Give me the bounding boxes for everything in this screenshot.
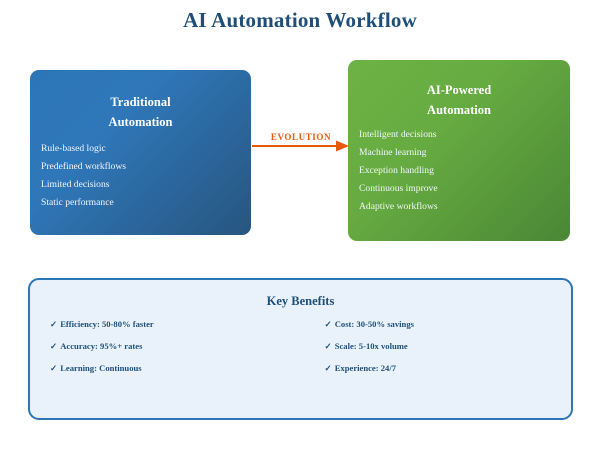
- list-item-label: Efficiency: 50-80% faster: [60, 319, 154, 329]
- panel-ai-title: AI-Powered Automation: [348, 80, 570, 120]
- list-item: ✓Efficiency: 50-80% faster: [50, 320, 301, 329]
- check-icon: ✓: [50, 341, 57, 351]
- check-icon: ✓: [325, 363, 332, 373]
- list-item: ✓Accuracy: 95%+ rates: [50, 342, 301, 351]
- check-icon: ✓: [50, 363, 57, 373]
- panel-ai-title-line1: AI-Powered: [360, 80, 558, 100]
- check-icon: ✓: [50, 319, 57, 329]
- key-benefits-right-column: ✓Cost: 30-50% savings ✓Scale: 5-10x volu…: [301, 320, 572, 386]
- key-benefits-columns: ✓Efficiency: 50-80% faster ✓Accuracy: 95…: [30, 320, 571, 386]
- list-item: Rule-based logic: [41, 144, 251, 154]
- key-benefits-title: Key Benefits: [30, 294, 571, 309]
- panel-ai-items: Intelligent decisions Machine learning E…: [348, 130, 570, 212]
- key-benefits-left-column: ✓Efficiency: 50-80% faster ✓Accuracy: 95…: [30, 320, 301, 386]
- panel-ai-title-line2: Automation: [360, 100, 558, 120]
- list-item: Continuous improve: [359, 184, 570, 194]
- list-item-label: Cost: 30-50% savings: [335, 319, 414, 329]
- panel-traditional-title: Traditional Automation: [30, 92, 251, 132]
- list-item-label: Accuracy: 95%+ rates: [60, 341, 142, 351]
- list-item: Predefined workflows: [41, 162, 251, 172]
- list-item-label: Scale: 5-10x volume: [335, 341, 408, 351]
- list-item-label: Experience: 24/7: [335, 363, 396, 373]
- page-title: AI Automation Workflow: [0, 8, 600, 33]
- check-icon: ✓: [325, 341, 332, 351]
- list-item: ✓Learning: Continuous: [50, 364, 301, 373]
- list-item: Intelligent decisions: [359, 130, 570, 140]
- list-item: Machine learning: [359, 148, 570, 158]
- panel-traditional-items: Rule-based logic Predefined workflows Li…: [30, 144, 251, 208]
- list-item: Limited decisions: [41, 180, 251, 190]
- panel-ai-powered-automation: AI-Powered Automation Intelligent decisi…: [348, 60, 570, 241]
- list-item: ✓Experience: 24/7: [325, 364, 572, 373]
- diagram-canvas: AI Automation Workflow Traditional Autom…: [0, 0, 600, 450]
- list-item-label: Learning: Continuous: [60, 363, 141, 373]
- panel-traditional-title-line2: Automation: [42, 112, 239, 132]
- list-item: Exception handling: [359, 166, 570, 176]
- arrow-right-icon: [252, 139, 350, 153]
- panel-traditional-automation: Traditional Automation Rule-based logic …: [30, 70, 251, 235]
- panel-traditional-title-line1: Traditional: [42, 92, 239, 112]
- list-item: Static performance: [41, 198, 251, 208]
- key-benefits-box: Key Benefits ✓Efficiency: 50-80% faster …: [28, 278, 573, 420]
- list-item: ✓Scale: 5-10x volume: [325, 342, 572, 351]
- check-icon: ✓: [325, 319, 332, 329]
- list-item: ✓Cost: 30-50% savings: [325, 320, 572, 329]
- list-item: Adaptive workflows: [359, 202, 570, 212]
